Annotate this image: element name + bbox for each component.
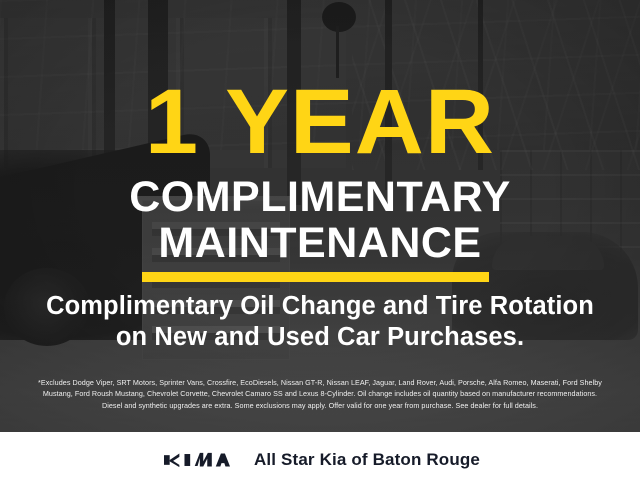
dealer-name: All Star Kia of Baton Rouge xyxy=(254,450,480,470)
offer-line-2: on New and Used Car Purchases. xyxy=(20,322,620,353)
disclaimer-line-3: Diesel and synthetic upgrades are extra.… xyxy=(14,400,626,411)
hero-image-area: 1 YEAR COMPLIMENTARY MAINTENANCE Complim… xyxy=(0,0,640,432)
promotional-banner: 1 YEAR COMPLIMENTARY MAINTENANCE Complim… xyxy=(0,0,640,488)
offer-line-1: Complimentary Oil Change and Tire Rotati… xyxy=(20,291,620,322)
offer-description: Complimentary Oil Change and Tire Rotati… xyxy=(20,291,620,353)
yellow-divider-bar xyxy=(142,272,489,282)
kia-logo-icon xyxy=(160,450,234,470)
headline-maintenance: MAINTENANCE xyxy=(0,222,640,265)
headline-year: 1 YEAR xyxy=(0,76,640,168)
disclaimer-line-1: *Excludes Dodge Viper, SRT Motors, Sprin… xyxy=(14,377,626,388)
disclaimer-text: *Excludes Dodge Viper, SRT Motors, Sprin… xyxy=(14,377,626,411)
banner-content: 1 YEAR COMPLIMENTARY MAINTENANCE Complim… xyxy=(0,0,640,432)
dealer-footer: All Star Kia of Baton Rouge xyxy=(0,432,640,488)
headline-complimentary: COMPLIMENTARY xyxy=(0,176,640,219)
disclaimer-line-2: Mustang, Ford Roush Mustang, Chevrolet C… xyxy=(14,388,626,399)
